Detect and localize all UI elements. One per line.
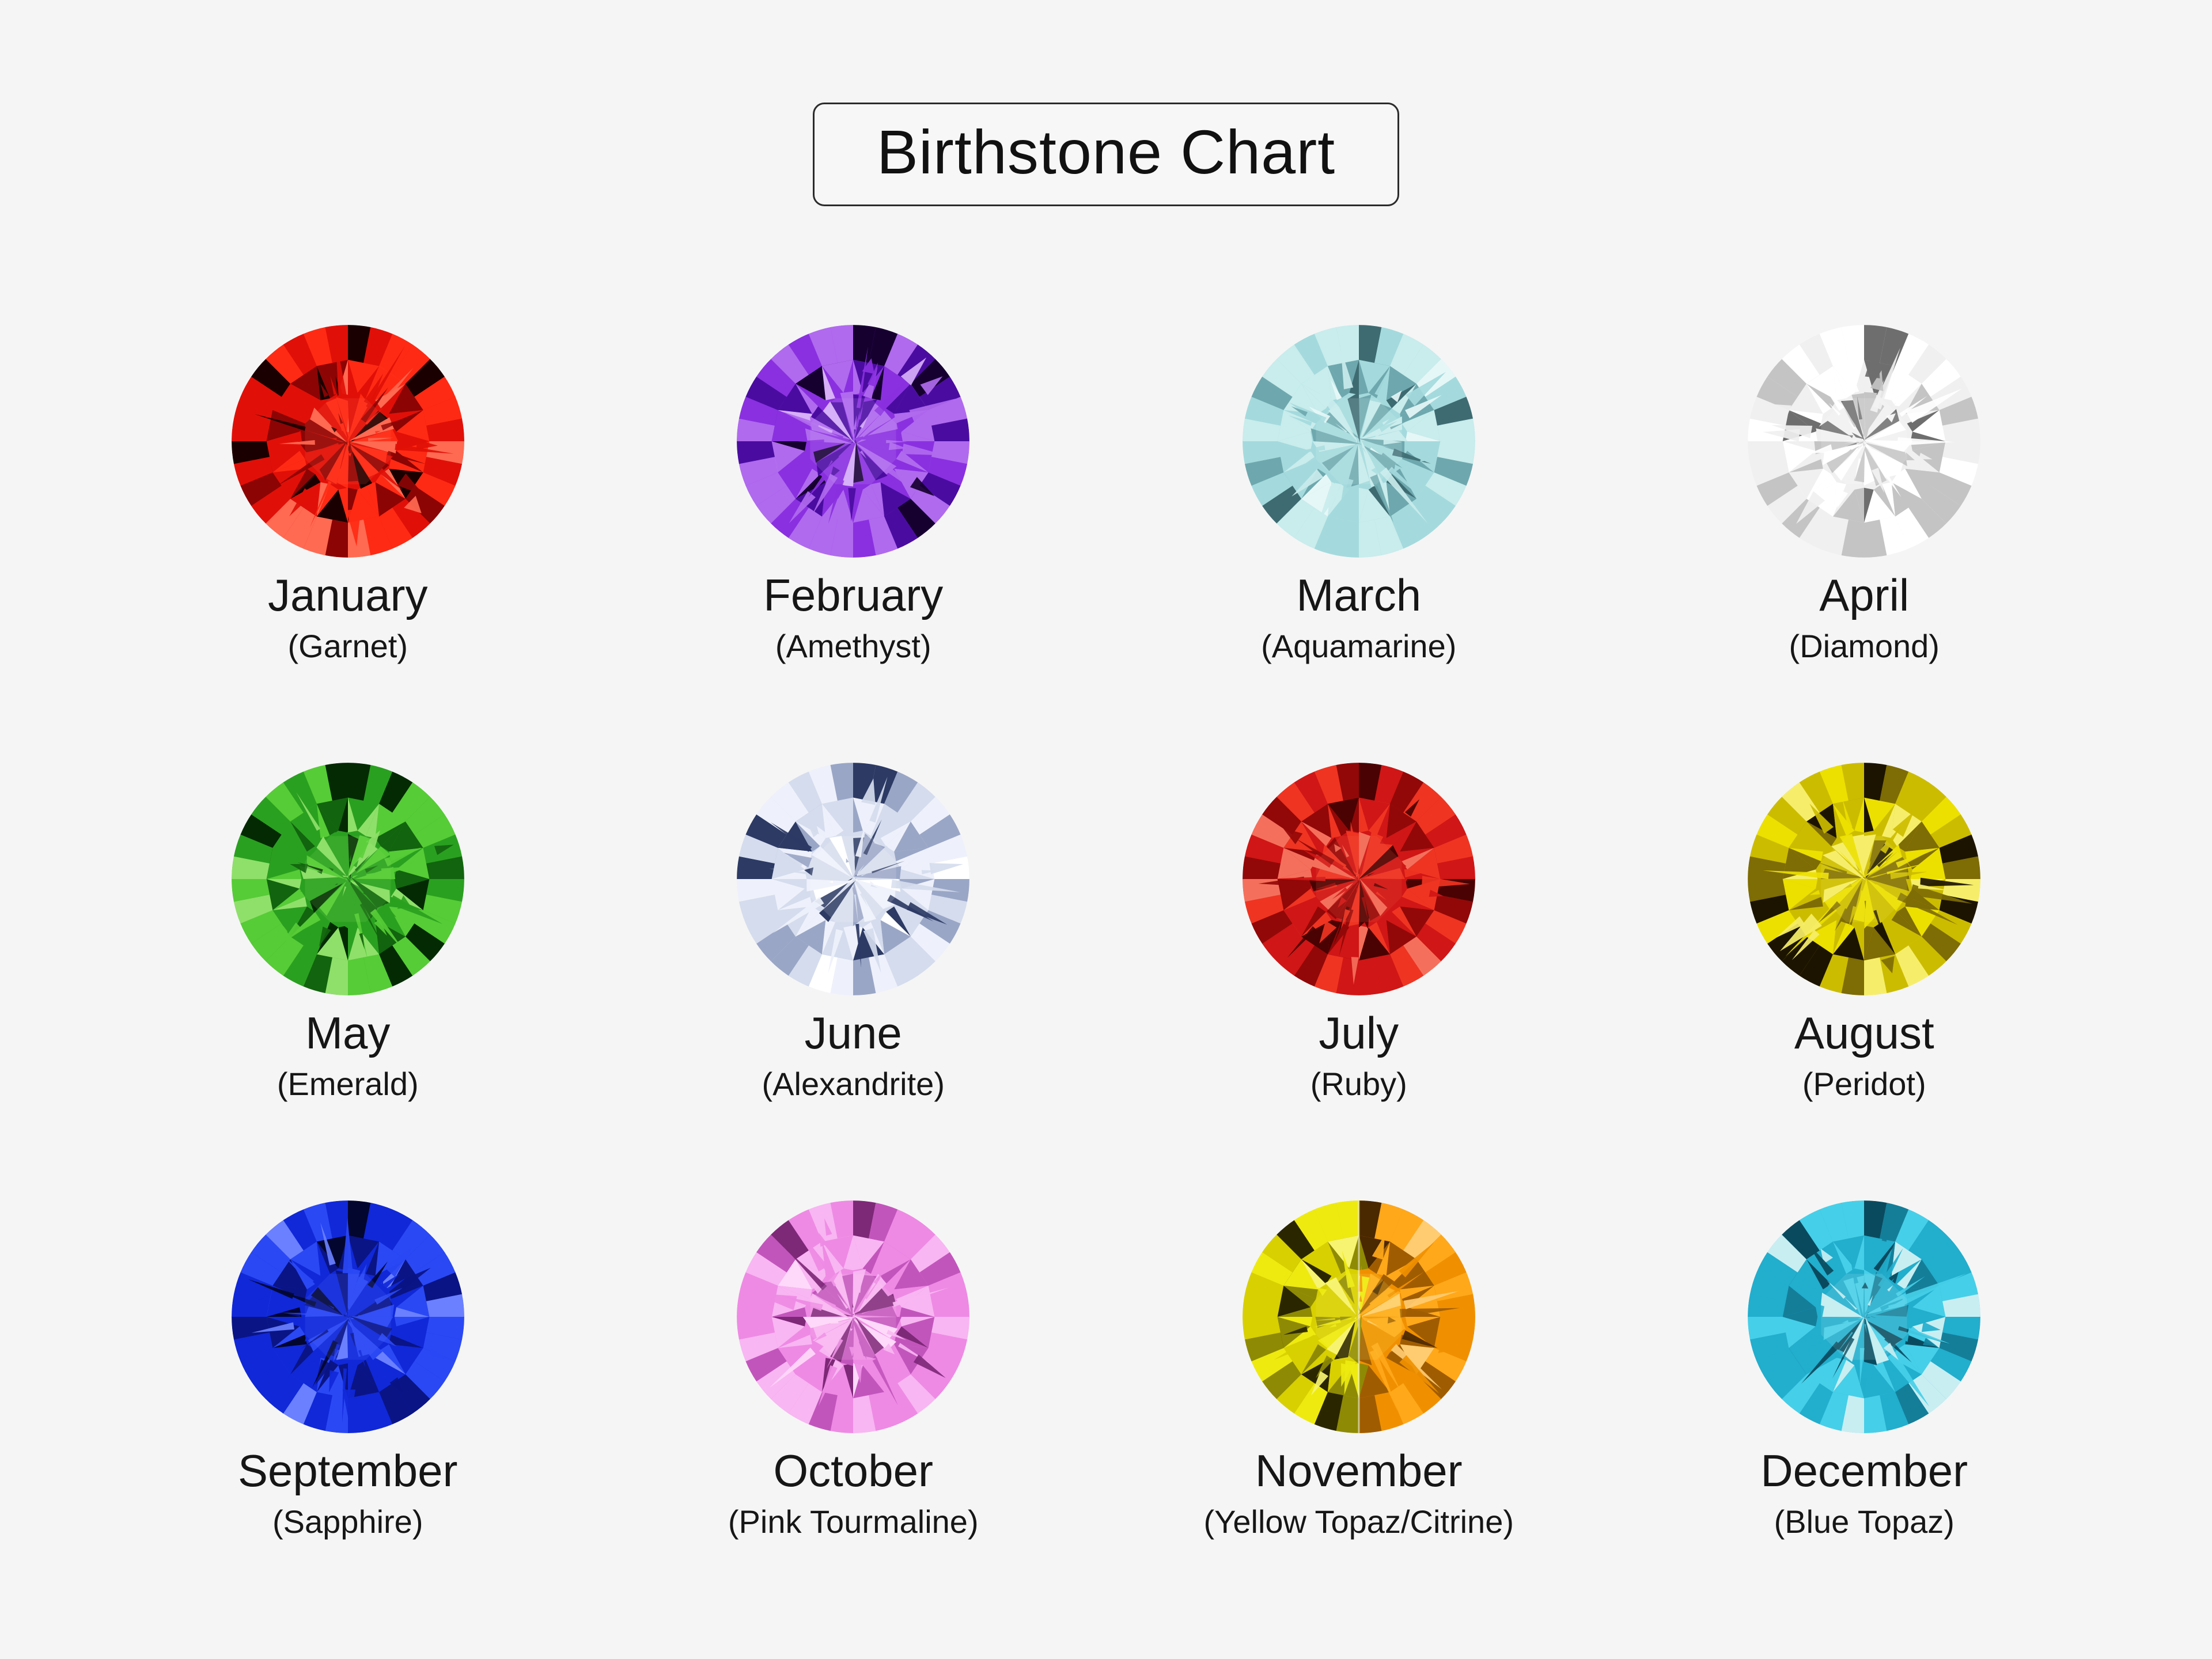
birthstone-labels: June(Alexandrite) [601,1010,1107,1100]
month-label: February [601,573,1107,618]
month-label: August [1612,1010,2118,1055]
month-label: September [95,1448,601,1493]
birthstone-labels: January(Garnet) [95,573,601,662]
month-label: November [1106,1448,1612,1493]
page-title: Birthstone Chart [877,119,1335,185]
month-label: July [1106,1010,1612,1055]
birthstone-labels: March(Aquamarine) [1106,573,1612,662]
month-label: March [1106,573,1612,618]
birthstone-cell: October(Pink Tourmaline) [601,1198,1107,1636]
stone-name-label: (Ruby) [1106,1068,1612,1100]
stone-name-label: (Pink Tourmaline) [601,1506,1107,1538]
birthstone-labels: November(Yellow Topaz/Citrine) [1106,1448,1612,1538]
birthstone-cell: January(Garnet) [95,323,601,760]
round-brilliant-gem-icon [734,1198,972,1435]
stone-name-label: (Alexandrite) [601,1068,1107,1100]
stone-name-label: (Yellow Topaz/Citrine) [1106,1506,1612,1538]
round-brilliant-gem-icon [229,323,467,560]
stone-name-label: (Peridot) [1612,1068,2118,1100]
birthstone-labels: October(Pink Tourmaline) [601,1448,1107,1538]
round-brilliant-gem-icon [1745,323,1983,560]
birthstone-cell: June(Alexandrite) [601,760,1107,1198]
birthstone-grid: January(Garnet)February(Amethyst)March(A… [95,323,2117,1636]
stone-name-label: (Aquamarine) [1106,630,1612,662]
stone-name-label: (Blue Topaz) [1612,1506,2118,1538]
stone-name-label: (Emerald) [95,1068,601,1100]
month-label: December [1612,1448,2118,1493]
birthstone-labels: September(Sapphire) [95,1448,601,1538]
stone-name-label: (Diamond) [1612,630,2118,662]
birthstone-labels: December(Blue Topaz) [1612,1448,2118,1538]
title-box: Birthstone Chart [813,103,1399,206]
birthstone-labels: May(Emerald) [95,1010,601,1100]
birthstone-cell: August(Peridot) [1612,760,2118,1198]
month-label: October [601,1448,1107,1493]
stone-name-label: (Amethyst) [601,630,1107,662]
birthstone-cell: March(Aquamarine) [1106,323,1612,760]
round-brilliant-gem-icon [1240,1198,1478,1435]
round-brilliant-gem-icon [229,1198,467,1435]
birthstone-cell: December(Blue Topaz) [1612,1198,2118,1636]
birthstone-cell: November(Yellow Topaz/Citrine) [1106,1198,1612,1636]
round-brilliant-gem-icon [734,760,972,998]
month-label: June [601,1010,1107,1055]
title-bar: Birthstone Chart [0,103,2212,206]
birthstone-labels: July(Ruby) [1106,1010,1612,1100]
round-brilliant-gem-icon [1240,760,1478,998]
birthstone-cell: September(Sapphire) [95,1198,601,1636]
month-label: April [1612,573,2118,618]
round-brilliant-gem-icon [734,323,972,560]
month-label: May [95,1010,601,1055]
birthstone-cell: February(Amethyst) [601,323,1107,760]
round-brilliant-gem-icon [229,760,467,998]
stone-name-label: (Garnet) [95,630,601,662]
stone-name-label: (Sapphire) [95,1506,601,1538]
birthstone-labels: April(Diamond) [1612,573,2118,662]
round-brilliant-gem-icon [1745,1198,1983,1435]
birthstone-labels: August(Peridot) [1612,1010,2118,1100]
month-label: January [95,573,601,618]
birthstone-cell: July(Ruby) [1106,760,1612,1198]
birthstone-labels: February(Amethyst) [601,573,1107,662]
round-brilliant-gem-icon [1240,323,1478,560]
birthstone-cell: April(Diamond) [1612,323,2118,760]
round-brilliant-gem-icon [1745,760,1983,998]
birthstone-cell: May(Emerald) [95,760,601,1198]
